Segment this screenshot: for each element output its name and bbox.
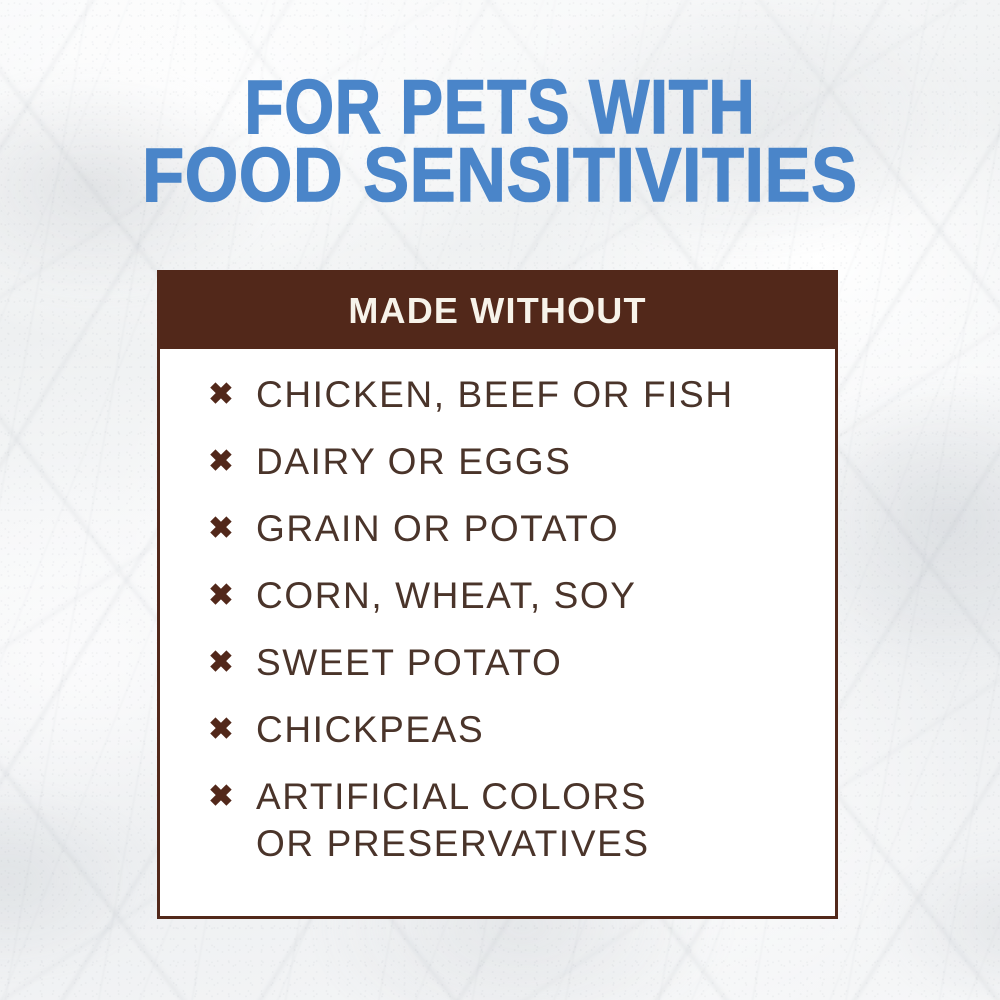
list-item: ✖ ARTIFICIAL COLORS OR PRESERVATIVES — [204, 773, 815, 867]
list-item: ✖ DAIRY OR EGGS — [204, 438, 815, 485]
heavy-x-mark-icon: ✖ — [204, 639, 238, 686]
list-item-label: CHICKEN, BEEF OR FISH — [256, 371, 734, 418]
card-header-bar: MADE WITHOUT — [160, 273, 835, 349]
list-item-label: CORN, WHEAT, SOY — [256, 572, 637, 619]
heavy-x-mark-icon: ✖ — [204, 773, 238, 820]
heavy-x-mark-icon: ✖ — [204, 505, 238, 552]
headline-line-2: FOOD SENSITIVITIES — [50, 142, 950, 210]
card-header-title: MADE WITHOUT — [348, 293, 646, 329]
list-item: ✖ CHICKEN, BEEF OR FISH — [204, 371, 815, 418]
excluded-ingredients-list: ✖ CHICKEN, BEEF OR FISH ✖ DAIRY OR EGGS … — [160, 371, 835, 867]
list-item: ✖ SWEET POTATO — [204, 639, 815, 686]
list-item: ✖ CHICKPEAS — [204, 706, 815, 753]
headline: FOR PETS WITH FOOD SENSITIVITIES — [0, 74, 1000, 210]
list-item-label: DAIRY OR EGGS — [256, 438, 572, 485]
heavy-x-mark-icon: ✖ — [204, 371, 238, 418]
card-body: ✖ CHICKEN, BEEF OR FISH ✖ DAIRY OR EGGS … — [160, 349, 835, 867]
made-without-card: MADE WITHOUT ✖ CHICKEN, BEEF OR FISH ✖ D… — [157, 270, 838, 919]
heavy-x-mark-icon: ✖ — [204, 572, 238, 619]
list-item: ✖ GRAIN OR POTATO — [204, 505, 815, 552]
list-item-label: ARTIFICIAL COLORS OR PRESERVATIVES — [256, 773, 650, 867]
list-item-label: SWEET POTATO — [256, 639, 562, 686]
list-item-label: CHICKPEAS — [256, 706, 484, 753]
heavy-x-mark-icon: ✖ — [204, 706, 238, 753]
heavy-x-mark-icon: ✖ — [204, 438, 238, 485]
headline-line-1: FOR PETS WITH — [80, 74, 920, 142]
list-item: ✖ CORN, WHEAT, SOY — [204, 572, 815, 619]
list-item-label: GRAIN OR POTATO — [256, 505, 619, 552]
infographic-canvas: FOR PETS WITH FOOD SENSITIVITIES MADE WI… — [0, 0, 1000, 1000]
